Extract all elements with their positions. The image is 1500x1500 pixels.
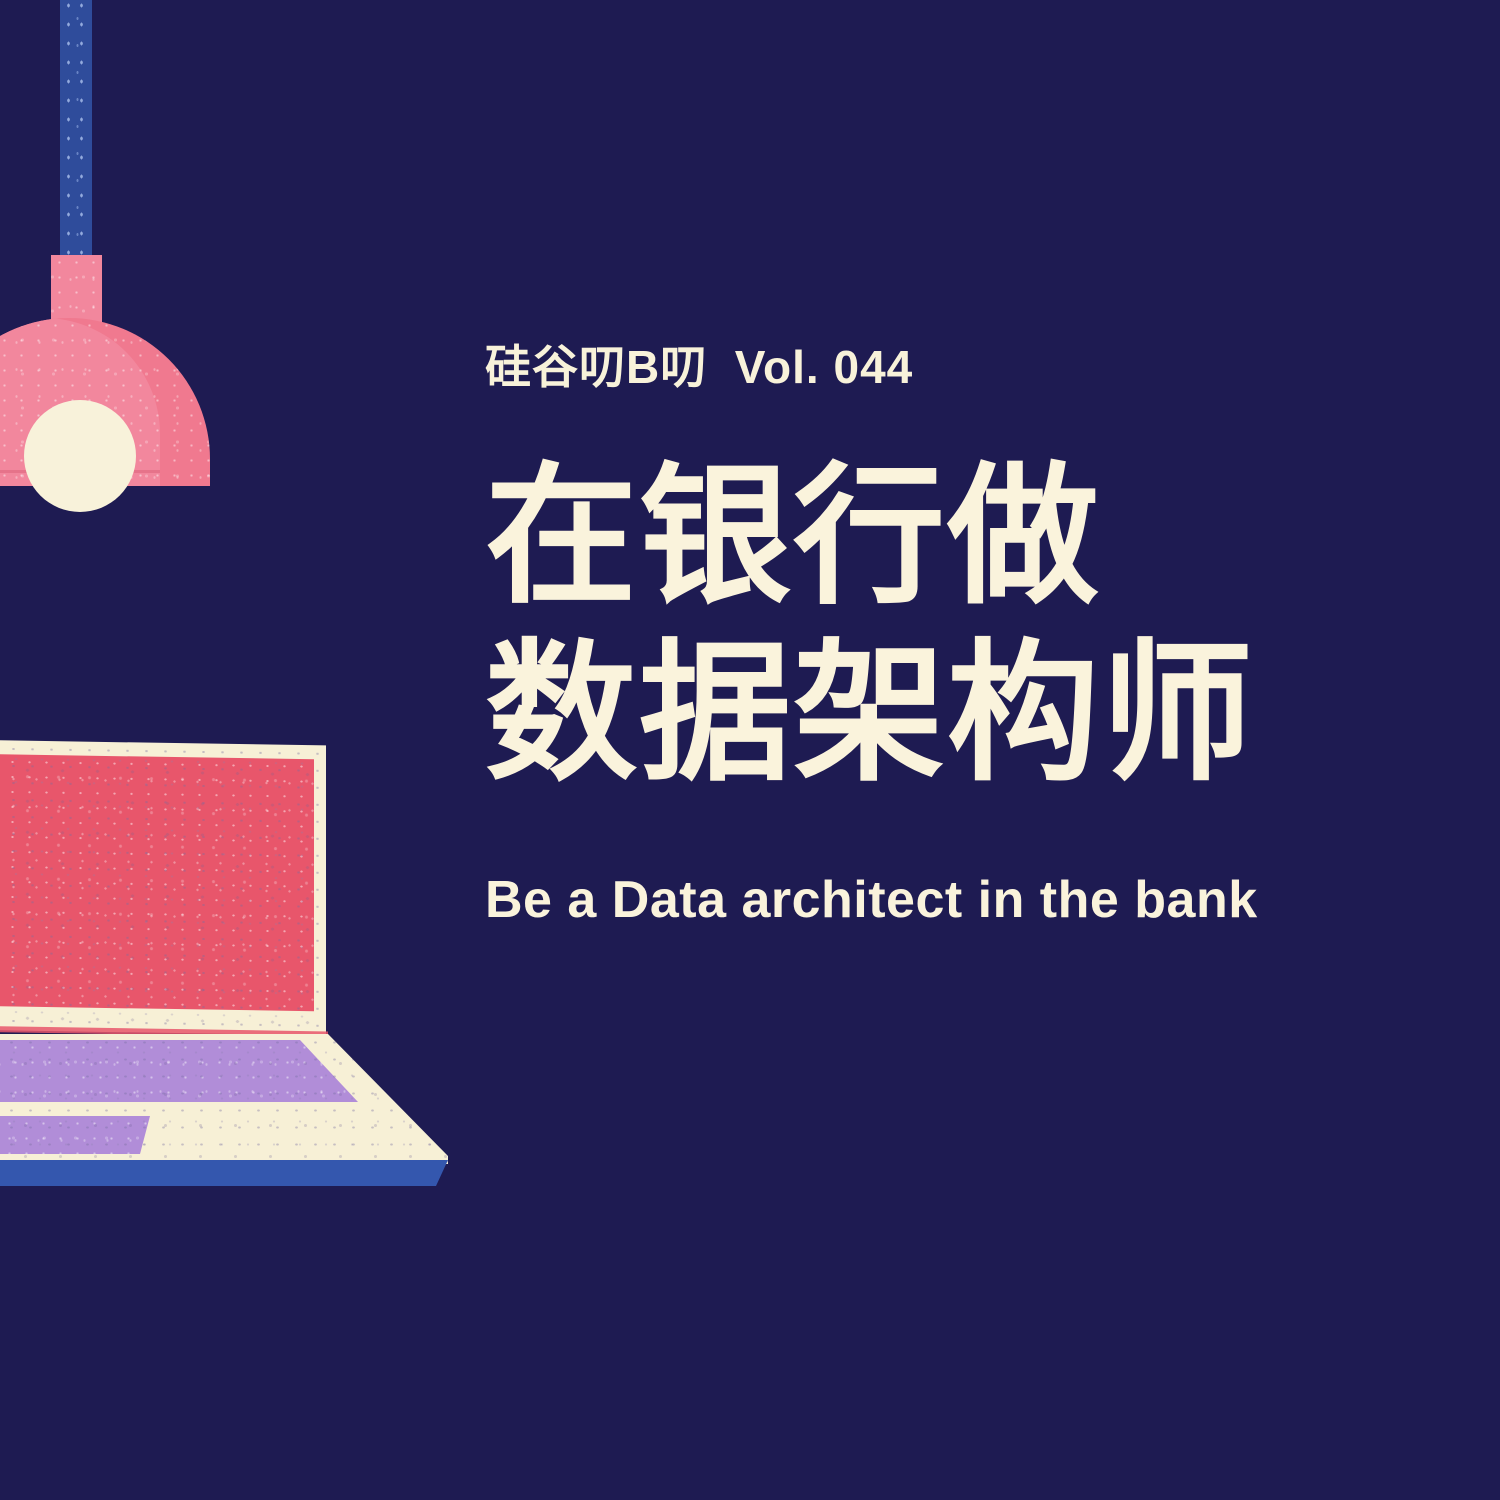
lamp-cord bbox=[60, 0, 92, 262]
series-and-episode-label: 硅谷叨B叨 Vol. 044 bbox=[485, 340, 1415, 395]
laptop-screen bbox=[0, 753, 314, 1011]
title-line-1: 在银行做 bbox=[485, 449, 1415, 625]
laptop-front-edge bbox=[0, 1160, 448, 1186]
english-subtitle: Be a Data architect in the bank bbox=[485, 870, 1415, 930]
laptop-screen-texture bbox=[0, 753, 314, 1011]
podcast-cover-art: 硅谷叨B叨 Vol. 044 在银行做 数据架构师 Be a Data arch… bbox=[0, 0, 1500, 1500]
laptop-illustration bbox=[0, 742, 450, 1212]
lamp-cord-texture bbox=[60, 0, 92, 262]
laptop-trackpad bbox=[0, 1116, 150, 1154]
lamp-bulb-icon bbox=[24, 400, 136, 512]
laptop-lid bbox=[0, 739, 326, 1036]
page-title: 在银行做 数据架构师 bbox=[485, 449, 1415, 802]
laptop-keyboard bbox=[0, 1040, 358, 1102]
laptop-deck bbox=[0, 1034, 448, 1164]
laptop-trackpad-texture bbox=[0, 1116, 150, 1154]
pendant-lamp-illustration bbox=[0, 0, 230, 480]
laptop-keyboard-texture bbox=[0, 1040, 358, 1102]
laptop-screen-arc-shape bbox=[0, 850, 52, 1011]
cover-text-block: 硅谷叨B叨 Vol. 044 在银行做 数据架构师 Be a Data arch… bbox=[485, 340, 1415, 930]
title-line-2: 数据架构师 bbox=[485, 626, 1415, 802]
